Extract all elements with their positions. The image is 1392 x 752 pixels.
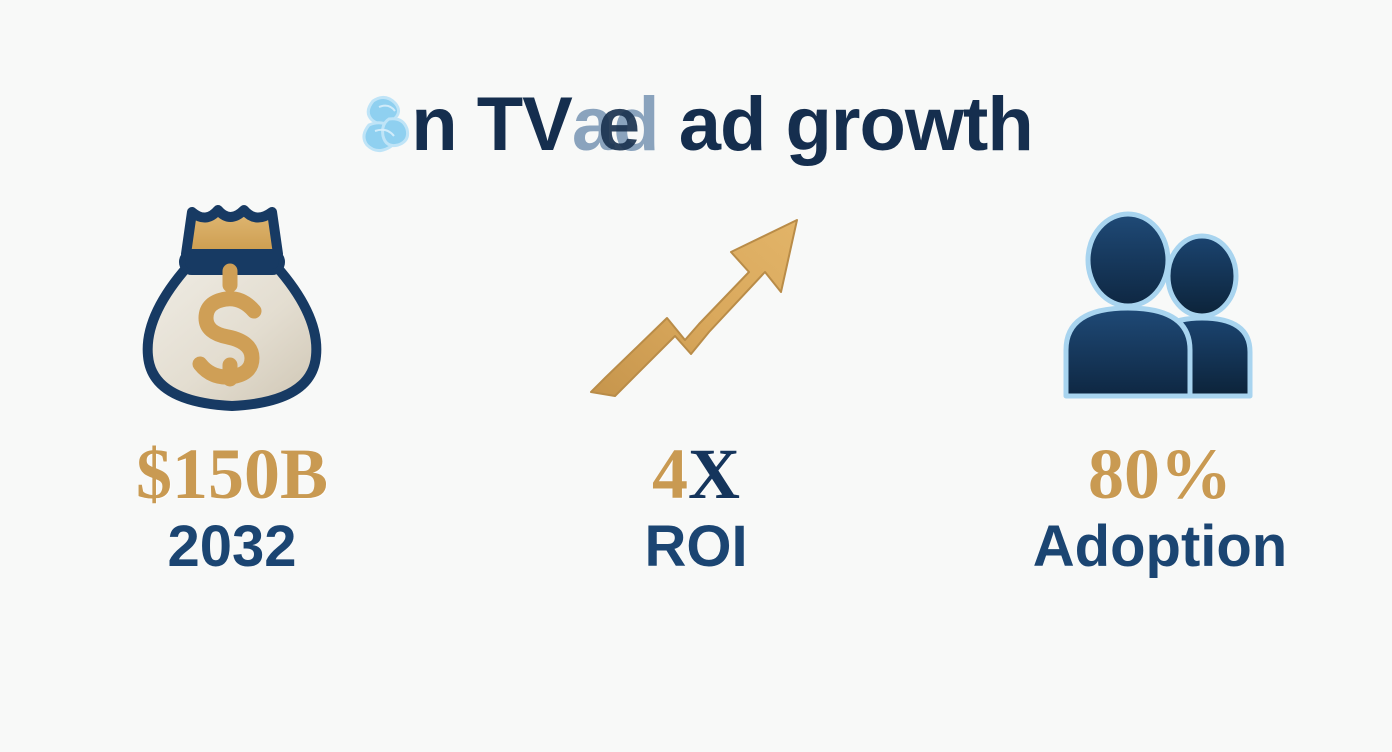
- stat-column-money: $150B 2032: [42, 196, 422, 578]
- people-icon-box: [1044, 196, 1276, 416]
- growth-arrow-icon-box: [581, 196, 811, 416]
- money-bag-icon: [126, 190, 338, 423]
- stat-label-adoption: Adoption: [1033, 517, 1287, 578]
- stat-label-roi: ROI: [644, 517, 747, 578]
- stats-row: $150B 2032: [0, 196, 1392, 636]
- title-segment-3: e: [598, 87, 639, 163]
- title-segment-1: TV: [457, 82, 572, 167]
- people-icon: [1044, 206, 1276, 407]
- page-title: n TVade ad growth: [0, 74, 1392, 180]
- stat-value-roi: 4X: [652, 438, 740, 511]
- stat-value-money: $150B: [136, 438, 328, 511]
- growth-arrow-icon: [581, 206, 811, 407]
- title-overlap-group: ade: [572, 87, 659, 163]
- title-segment-4: ad growth: [659, 82, 1033, 167]
- stat-column-adoption: 80% Adoption: [970, 196, 1350, 578]
- title-text: n TVade ad growth: [359, 87, 1033, 168]
- stat-value-roi-suffix: X: [688, 438, 740, 511]
- stat-column-roi: 4X ROI: [506, 196, 886, 578]
- title-segment-0: n: [411, 82, 456, 167]
- stat-value-adoption: 80%: [1088, 438, 1232, 511]
- money-bag-icon-box: [126, 196, 338, 416]
- infographic-canvas: n TVade ad growth: [0, 0, 1392, 752]
- blue-blob-glyph: [359, 91, 415, 167]
- stat-label-money: 2032: [167, 517, 296, 578]
- stat-value-roi-number: 4: [652, 438, 688, 511]
